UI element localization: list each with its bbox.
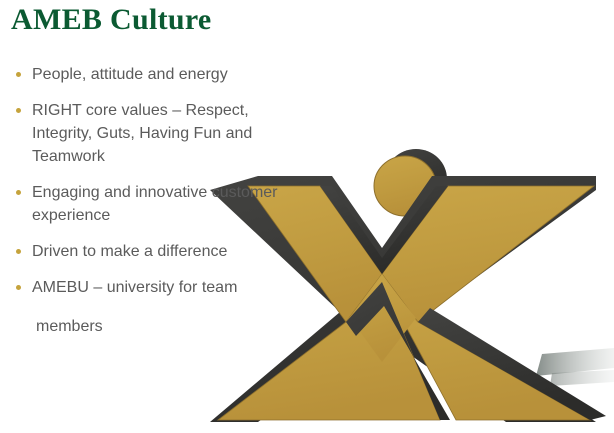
bullet-dot-icon (16, 72, 21, 77)
list-item-label: Engaging and innovative customer experie… (32, 181, 306, 227)
list-item-continuation: members (36, 315, 306, 338)
bullet-dot-icon (16, 190, 21, 195)
list-item-label: RIGHT core values – Respect, Integrity, … (32, 99, 306, 168)
presentation-slide: AMEB Culture (0, 0, 614, 433)
list-item-label: AMEBU – university for team (32, 276, 306, 299)
list-item-label: Driven to make a difference (32, 240, 306, 263)
list-item: Engaging and innovative customer experie… (6, 181, 306, 227)
list-item: Driven to make a difference (6, 240, 306, 263)
bullet-list: People, attitude and energy RIGHT core v… (6, 63, 306, 351)
page-title: AMEB Culture (11, 2, 212, 38)
bullet-dot-icon (16, 285, 21, 290)
bullet-dot-icon (16, 249, 21, 254)
list-item: RIGHT core values – Respect, Integrity, … (6, 99, 306, 168)
list-item: People, attitude and energy (6, 63, 306, 86)
bullet-dot-icon (16, 108, 21, 113)
list-item-label: People, attitude and energy (32, 63, 306, 86)
list-item: AMEBU – university for team members (6, 276, 306, 338)
